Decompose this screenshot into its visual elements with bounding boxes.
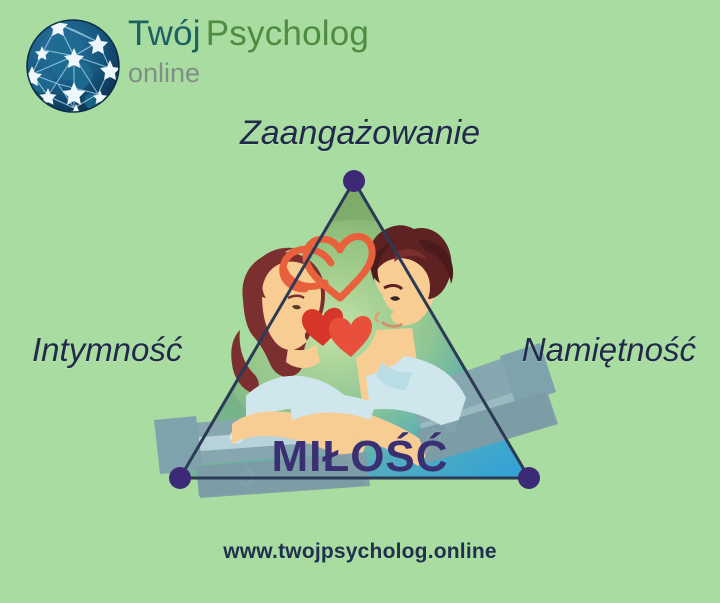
vertex-label-left: Intymność [32, 331, 182, 369]
vertex-label-top: Zaangażowanie [0, 114, 720, 153]
diagram-center-label: MIŁOŚĆ [0, 432, 720, 482]
globe-network-icon [14, 10, 106, 102]
vertex-label-right: Namiętność [522, 331, 696, 369]
site-url[interactable]: www.twojpsycholog.online [0, 540, 720, 564]
poster-canvas: TwójPsycholog online Zaangażowanie Intym… [0, 0, 720, 603]
brand-name-part1: Twój [128, 14, 201, 53]
brand-name-part2: Psycholog [206, 14, 369, 53]
brand-name: TwójPsycholog [128, 16, 369, 53]
brand-text: TwójPsycholog online [128, 16, 369, 87]
vertex-dot-top[interactable] [343, 170, 365, 192]
brand-header: TwójPsycholog online [14, 10, 369, 102]
brand-tagline: online [128, 59, 369, 87]
